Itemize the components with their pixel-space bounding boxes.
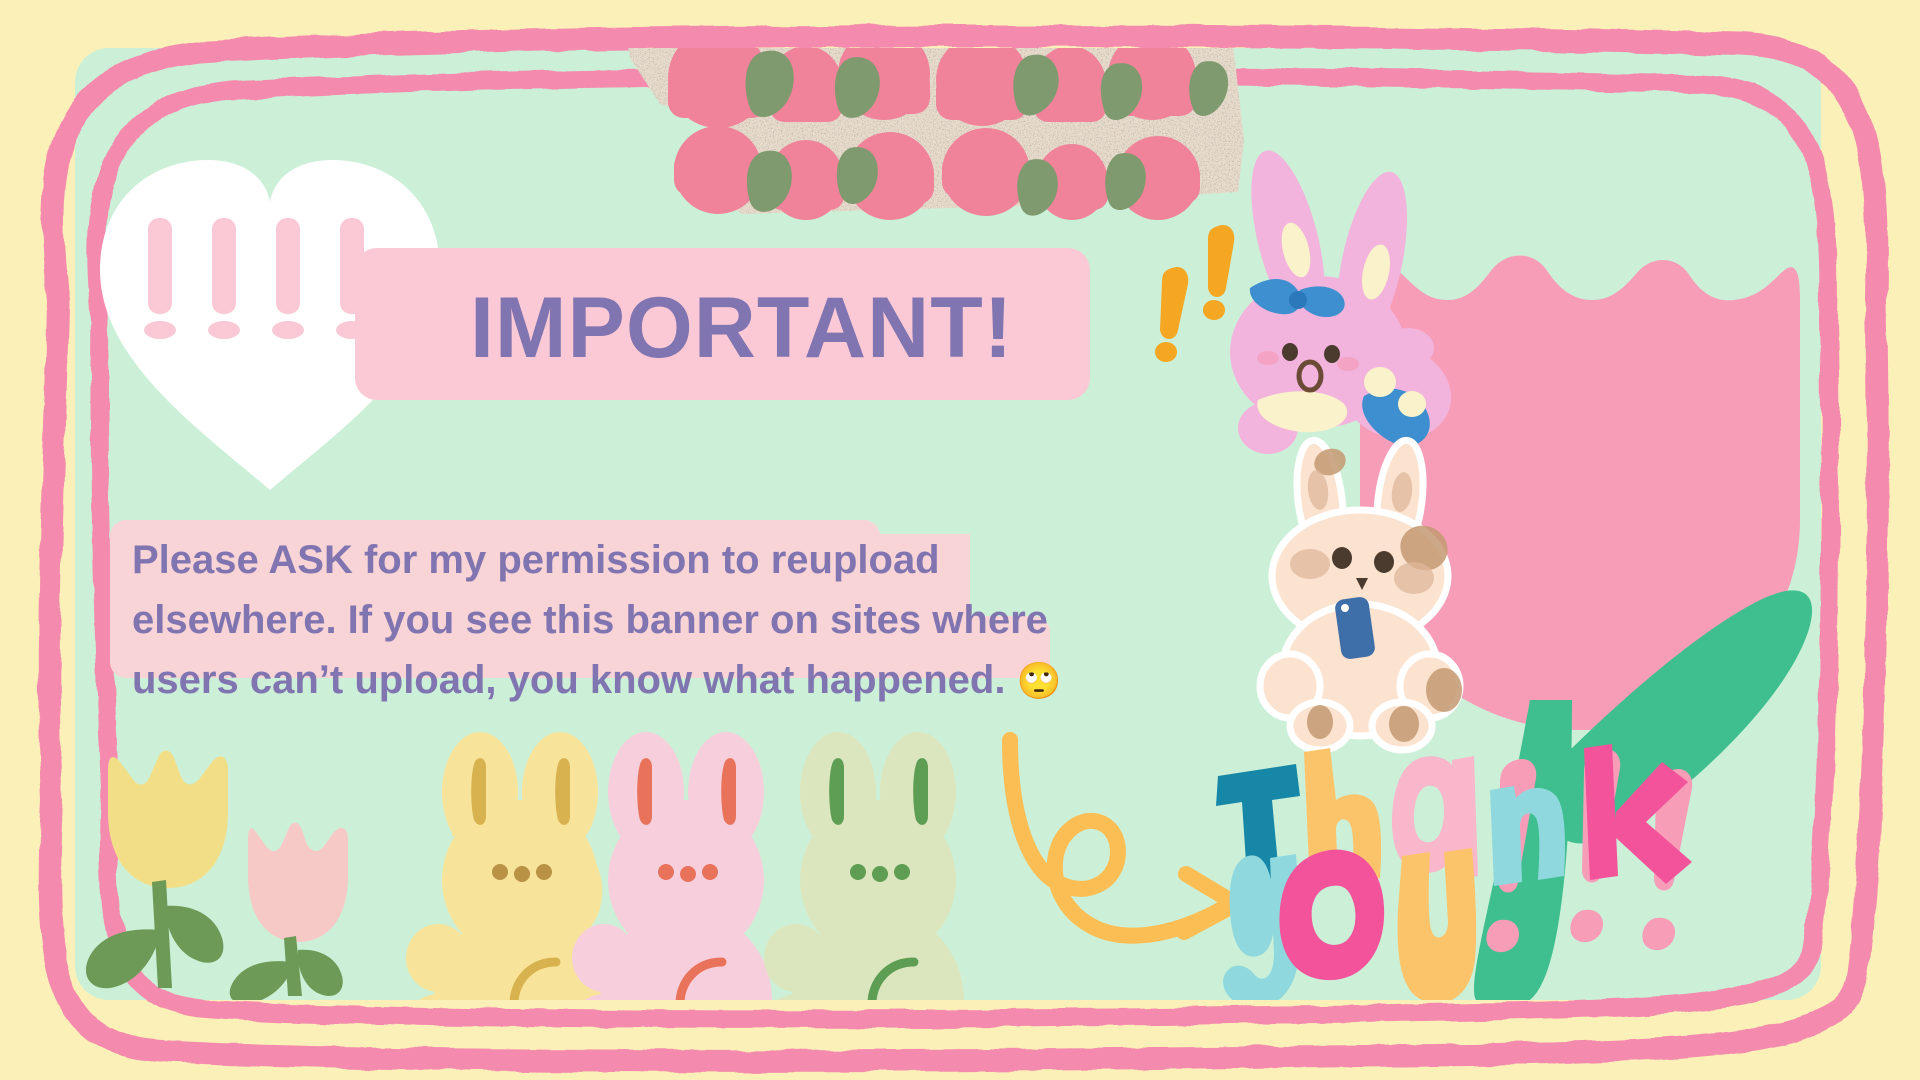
message-line-2: elsewhere. If you see this banner on sit… (132, 590, 1182, 650)
marshmallow-bunny-yellow (404, 732, 606, 1080)
pink-bunny-exclamation-marks (1155, 225, 1234, 362)
message-line-3-text: users can’t upload, you know what happen… (132, 658, 1005, 702)
bottom-decorations (86, 732, 964, 1080)
washi-tape-tulips (620, 0, 1244, 220)
banner-canvas: IMPORTANT! Please ASK for my permission … (0, 0, 1920, 1080)
thankyou-letter-u (1398, 848, 1477, 1003)
face-with-rolling-eyes-icon: 🙄 (1017, 660, 1062, 701)
small-tulip-yellow (86, 751, 228, 989)
message-line-1: Please ASK for my permission to reupload (132, 530, 1182, 590)
curly-arrow-icon (1010, 740, 1236, 936)
marshmallow-bunny-green (762, 732, 964, 1080)
thankyou-letter-o (1279, 850, 1384, 980)
message-line-3: users can’t upload, you know what happen… (132, 650, 1182, 710)
message-text: Please ASK for my permission to reupload… (132, 530, 1182, 710)
small-tulip-pink (230, 823, 348, 1004)
banner-title: IMPORTANT! (470, 268, 1110, 388)
